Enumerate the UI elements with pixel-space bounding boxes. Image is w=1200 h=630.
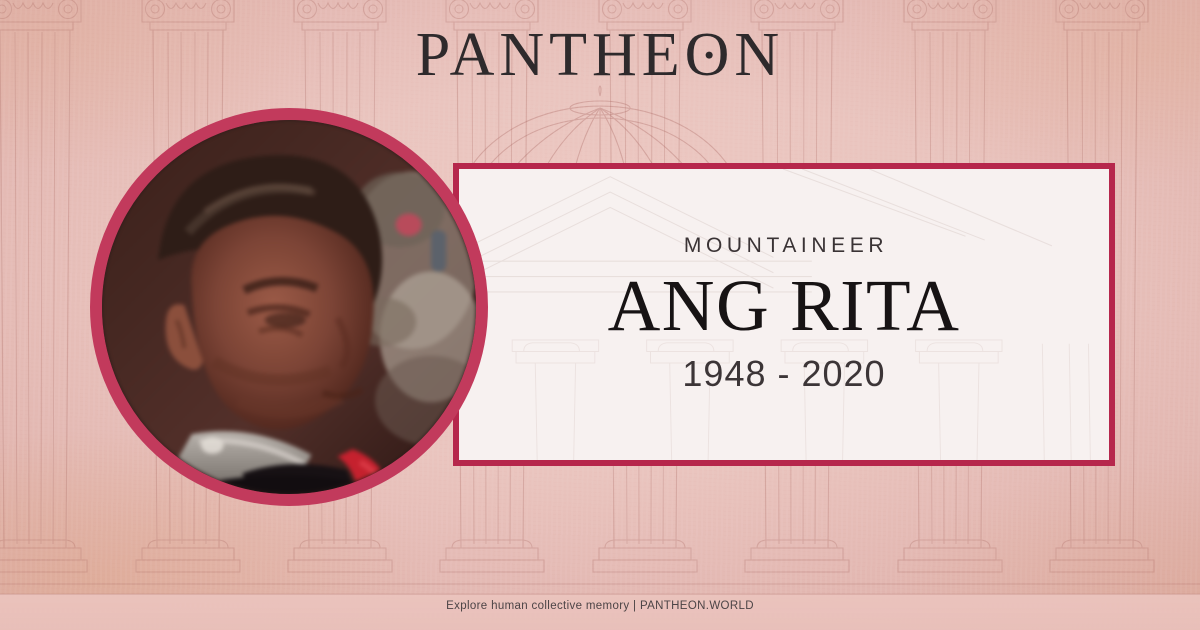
portrait-photo	[102, 120, 476, 494]
logo-text-before: PANTHE	[416, 21, 685, 89]
pantheon-logo[interactable]: PANTHEON	[0, 24, 1200, 86]
pantheon-profile-card: PANTHEON	[0, 0, 1200, 630]
logo-o-letter: O	[685, 24, 735, 86]
person-name: ANG RITA	[608, 268, 961, 345]
logo-center-dot-icon	[705, 52, 712, 59]
logo-text-after: N	[734, 21, 784, 89]
card-content: MOUNTAINEER ANG RITA 1948 - 2020	[459, 169, 1109, 460]
footer-text[interactable]: Explore human collective memory | PANTHE…	[0, 600, 1200, 612]
occupation-label: MOUNTAINEER	[680, 234, 888, 258]
avatar[interactable]	[90, 108, 488, 506]
life-dates: 1948 - 2020	[682, 353, 885, 395]
profile-card: MOUNTAINEER ANG RITA 1948 - 2020	[453, 163, 1115, 466]
